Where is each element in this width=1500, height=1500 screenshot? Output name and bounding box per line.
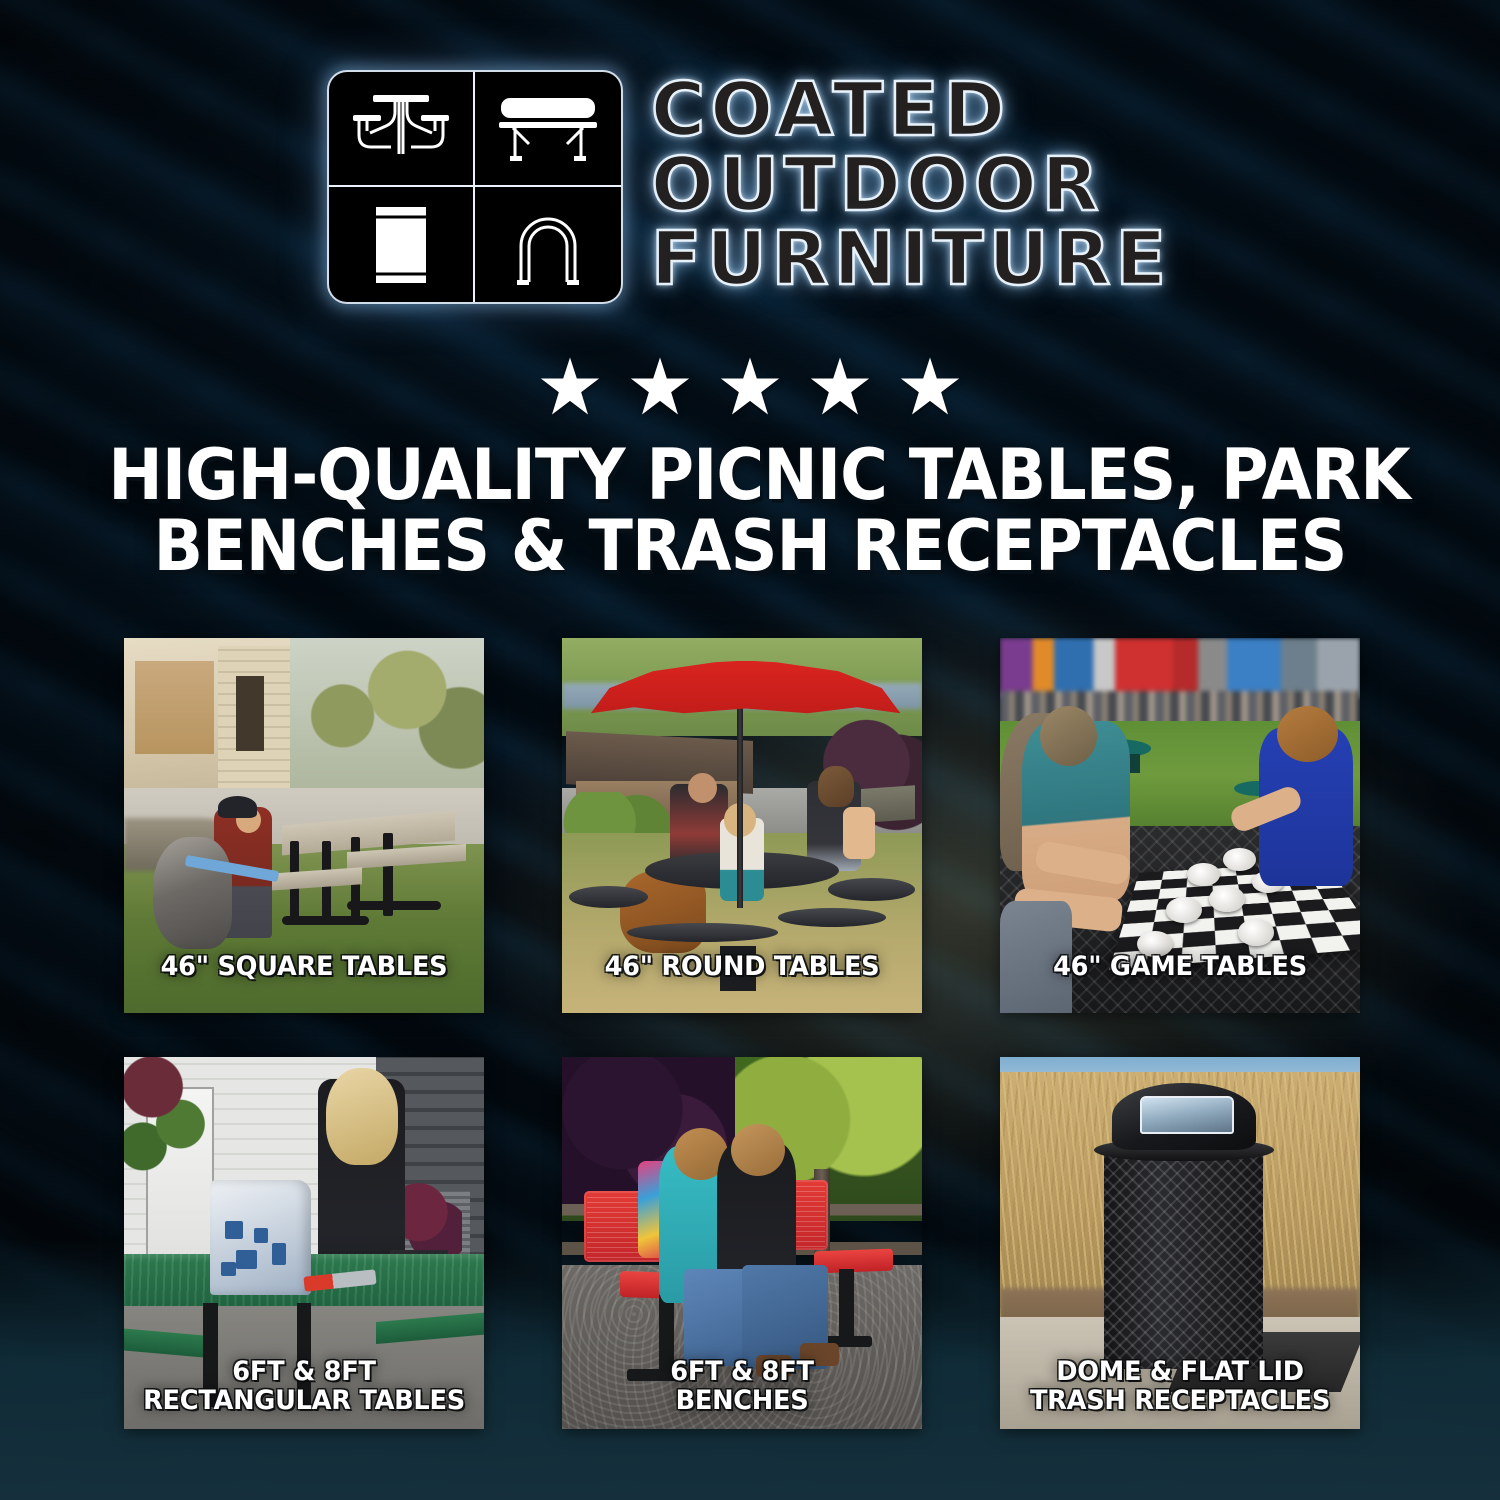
headline-line-2: BENCHES & TRASH RECEPTACLES [108,511,1391,582]
star-icon [719,356,781,416]
caption-line-1: 46" SQUARE TABLES [139,953,470,981]
star-icon [899,356,961,416]
caption-line-1: 6FT & 8FT [577,1358,908,1386]
product-grid: 46" SQUARE TABLES [124,638,1380,1429]
product-tile-game-tables[interactable]: 46" GAME TABLES [1000,638,1360,1013]
product-tile-square-tables[interactable]: 46" SQUARE TABLES [124,638,484,1013]
product-tile-benches[interactable]: 6FT & 8FT BENCHES [562,1057,922,1429]
star-icon [629,356,691,416]
caption-line-1: 46" GAME TABLES [1015,953,1346,981]
caption-line-1: 46" ROUND TABLES [577,953,908,981]
tile-caption: 46" GAME TABLES [1015,953,1346,981]
bench-icon [475,72,621,187]
star-icon [539,356,601,416]
caption-line-2: TRASH RECEPTACLES [1015,1387,1346,1415]
tile-caption: 6FT & 8FT BENCHES [577,1358,908,1415]
picnic-table-icon [329,72,475,187]
page-title: HIGH-QUALITY PICNIC TABLES, PARK BENCHES… [108,440,1391,583]
caption-line-1: DOME & FLAT LID [1015,1358,1346,1386]
brand-header: COATED OUTDOOR FURNITURE [0,72,1500,302]
caption-line-1: 6FT & 8FT [139,1358,470,1386]
tile-caption: DOME & FLAT LID TRASH RECEPTACLES [1015,1358,1346,1415]
tile-caption: 6FT & 8FT RECTANGULAR TABLES [139,1358,470,1415]
brand-wordmark: COATED OUTDOOR FURNITURE [651,74,1171,300]
arch-bike-rack-icon [475,187,621,302]
wordmark-line-1: COATED [651,74,1171,147]
marketing-poster: COATED OUTDOOR FURNITURE HIGH-QUALITY PI… [0,0,1500,1500]
caption-line-2: RECTANGULAR TABLES [139,1387,470,1415]
product-tile-trash-receptacles[interactable]: DOME & FLAT LID TRASH RECEPTACLES [1000,1057,1360,1429]
wordmark-line-3: FURNITURE [651,223,1171,296]
wordmark-line-2: OUTDOOR [651,149,1171,222]
star-rating [0,356,1500,416]
product-tile-rectangular-tables[interactable]: 6FT & 8FT RECTANGULAR TABLES [124,1057,484,1429]
tile-caption: 46" SQUARE TABLES [139,953,470,981]
caption-line-2: BENCHES [577,1387,908,1415]
star-icon [809,356,871,416]
tile-caption: 46" ROUND TABLES [577,953,908,981]
product-tile-round-tables[interactable]: 46" ROUND TABLES [562,638,922,1013]
trash-receptacle-icon [329,187,475,302]
headline-line-1: HIGH-QUALITY PICNIC TABLES, PARK [108,440,1391,511]
brand-logo-mark [329,72,621,302]
